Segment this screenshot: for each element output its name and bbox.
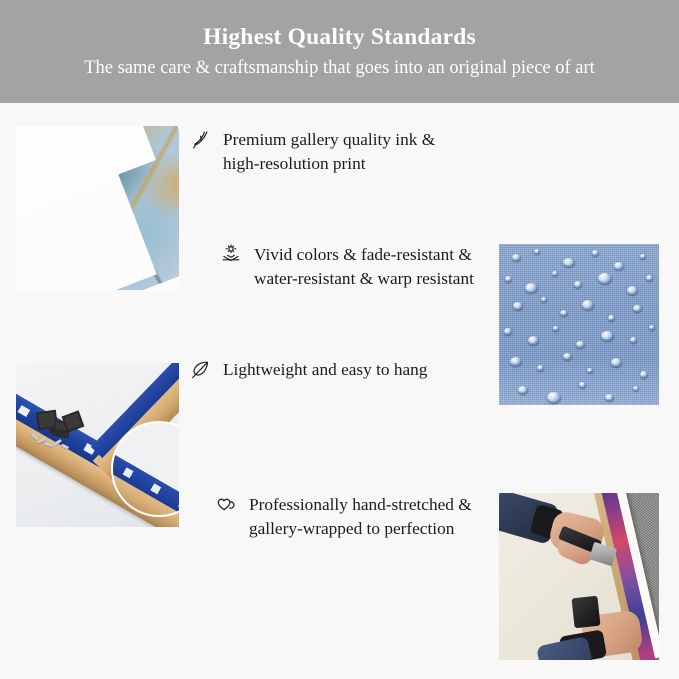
water-droplets-fabric-photo bbox=[499, 244, 659, 405]
feature-item-print-quality: Premium gallery quality ink & high-resol… bbox=[188, 128, 478, 176]
leaf-feather-icon bbox=[188, 359, 212, 385]
page-subtitle: The same care & craftsmanship that goes … bbox=[84, 58, 595, 79]
teal-alcohol-ink-canvas-photo bbox=[16, 126, 179, 290]
feature-label: Vivid colors & fade-resistant & water-re… bbox=[254, 243, 474, 291]
hand-stretching-canvas-photo bbox=[499, 493, 659, 660]
feature-label: Premium gallery quality ink & high-resol… bbox=[223, 128, 435, 176]
canvas-pliers-secondary bbox=[572, 596, 601, 629]
sun-water-resistant-icon bbox=[219, 244, 243, 270]
product-feature-infographic: Highest Quality Standards The same care … bbox=[0, 0, 679, 679]
feature-item-lightweight: Lightweight and easy to hang bbox=[188, 358, 478, 385]
feature-item-color-resistance: Vivid colors & fade-resistant & water-re… bbox=[219, 243, 509, 291]
stretcher-bar-hardware-photo bbox=[16, 363, 179, 527]
feature-item-hand-stretched: Professionally hand-stretched & gallery-… bbox=[214, 493, 504, 541]
feature-label: Professionally hand-stretched & gallery-… bbox=[249, 493, 472, 541]
quill-pen-icon bbox=[188, 129, 212, 155]
hand-stretch-icon bbox=[214, 494, 238, 520]
feature-label: Lightweight and easy to hang bbox=[223, 358, 427, 382]
header-banner: Highest Quality Standards The same care … bbox=[0, 0, 679, 103]
water-droplet-cluster bbox=[499, 244, 659, 405]
page-title: Highest Quality Standards bbox=[203, 25, 476, 51]
